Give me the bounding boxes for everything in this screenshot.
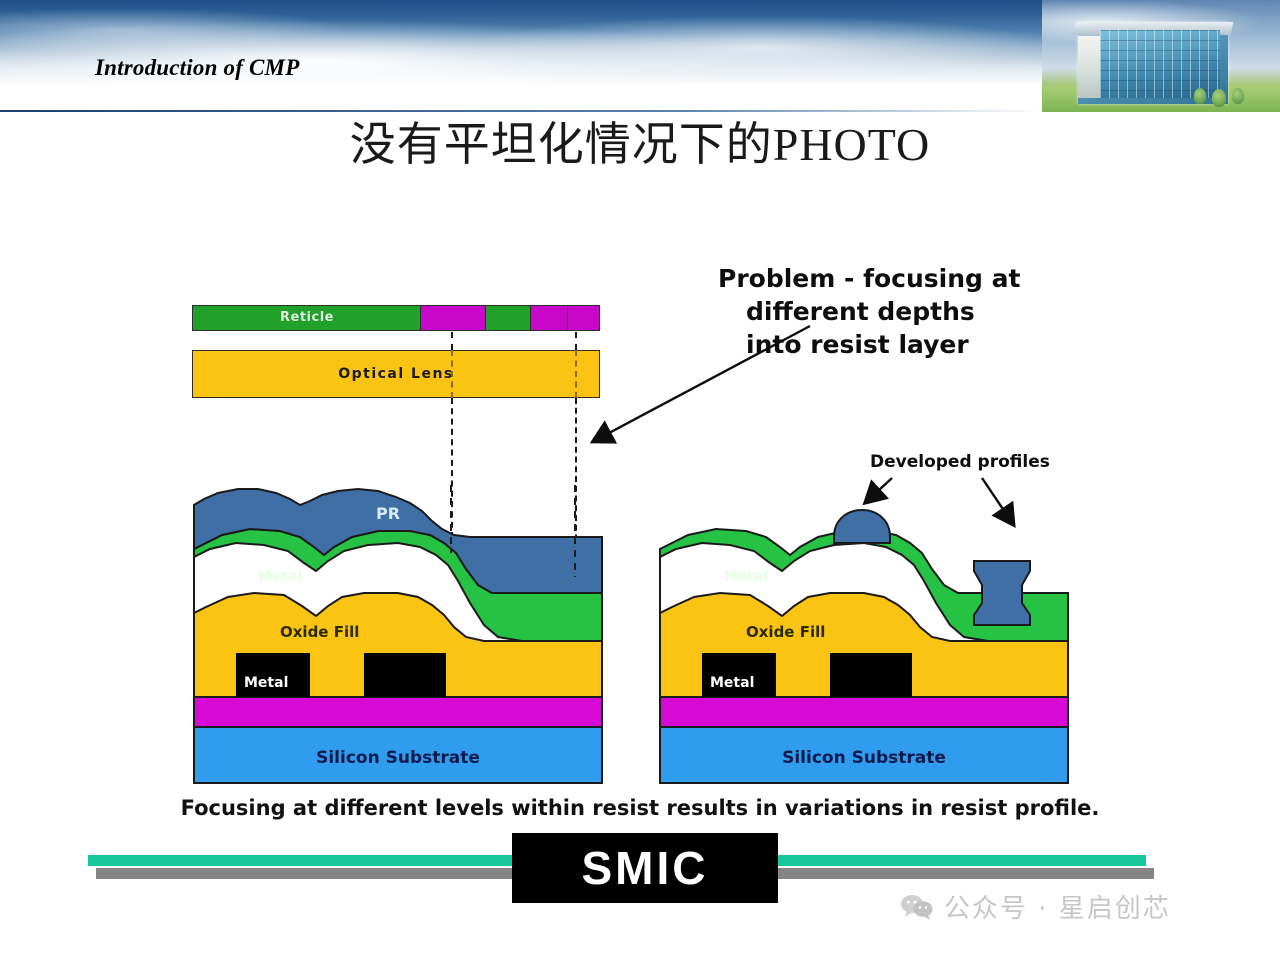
left-metal-film-label: Metal: [258, 569, 302, 585]
reticle-segment-chrome: [567, 306, 599, 330]
left-cross-section: PR Metal Oxide Fill Metal Silicon Substr…: [192, 485, 604, 785]
watermark-text: 公众号 · 星启创芯: [944, 888, 1171, 925]
ray-line-right-inlens: [575, 350, 577, 398]
left-oxide-label: Oxide Fill: [280, 623, 359, 641]
reticle-segment-chrome: [530, 306, 567, 330]
problem-annotation: Problem - focusing at different depths i…: [718, 262, 1020, 361]
wechat-icon: [900, 893, 934, 921]
left-barrier-layer: [194, 697, 602, 727]
figure-caption: Focusing at different levels within resi…: [170, 796, 1110, 820]
right-metal-line-2: [830, 653, 912, 697]
left-metal-line-label: Metal: [244, 675, 288, 691]
developed-profile-waisted: [974, 561, 1030, 625]
slide-root: Introduction of CMP 没有平坦化情况下的PHOTO Retic…: [0, 0, 1280, 960]
right-metal-film-label: Metal: [724, 569, 768, 585]
watermark: 公众号 · 星启创芯: [900, 888, 1171, 925]
problem-line-3: into resist layer: [718, 328, 1020, 361]
photo-tree: [1232, 88, 1244, 104]
ray-line-right-upper: [575, 332, 577, 350]
right-cross-section: Metal Oxide Fill Metal Silicon Substrate: [658, 485, 1070, 785]
page-title: 没有平坦化情况下的PHOTO: [0, 108, 1280, 174]
left-metal-line-2: [364, 653, 446, 697]
left-pr-label: PR: [376, 504, 400, 523]
cmp-photo-figure: Reticle Optical Lens Problem - focusing …: [170, 240, 1110, 800]
smic-logo-text: SMIC: [582, 841, 709, 895]
reticle-segment-clear: [485, 306, 530, 330]
building-wing: [1078, 36, 1102, 98]
optical-lens-label: Optical Lens: [192, 350, 600, 398]
photo-building: [1078, 22, 1228, 104]
problem-line-1: Problem - focusing at: [718, 264, 1020, 293]
developed-profile-dome: [834, 510, 890, 543]
photo-tree: [1212, 89, 1226, 107]
ray-line-left-upper: [451, 332, 453, 350]
right-metal-line-label: Metal: [710, 675, 754, 691]
right-substrate-label: Silicon Substrate: [782, 748, 946, 768]
developed-profiles-annotation: Developed profiles: [870, 452, 1050, 472]
right-oxide-label: Oxide Fill: [746, 623, 825, 641]
problem-line-2: different depths: [718, 295, 1020, 328]
smic-building-photo: [1042, 0, 1280, 112]
photo-tree: [1194, 88, 1206, 104]
section-eyebrow-title: Introduction of CMP: [95, 55, 299, 81]
reticle-label: Reticle: [192, 305, 422, 331]
left-substrate-label: Silicon Substrate: [316, 748, 480, 768]
reticle-segment-chrome: [420, 306, 485, 330]
right-barrier-layer: [660, 697, 1068, 727]
ray-line-left-inlens: [451, 350, 453, 398]
smic-logo: SMIC: [512, 833, 778, 903]
